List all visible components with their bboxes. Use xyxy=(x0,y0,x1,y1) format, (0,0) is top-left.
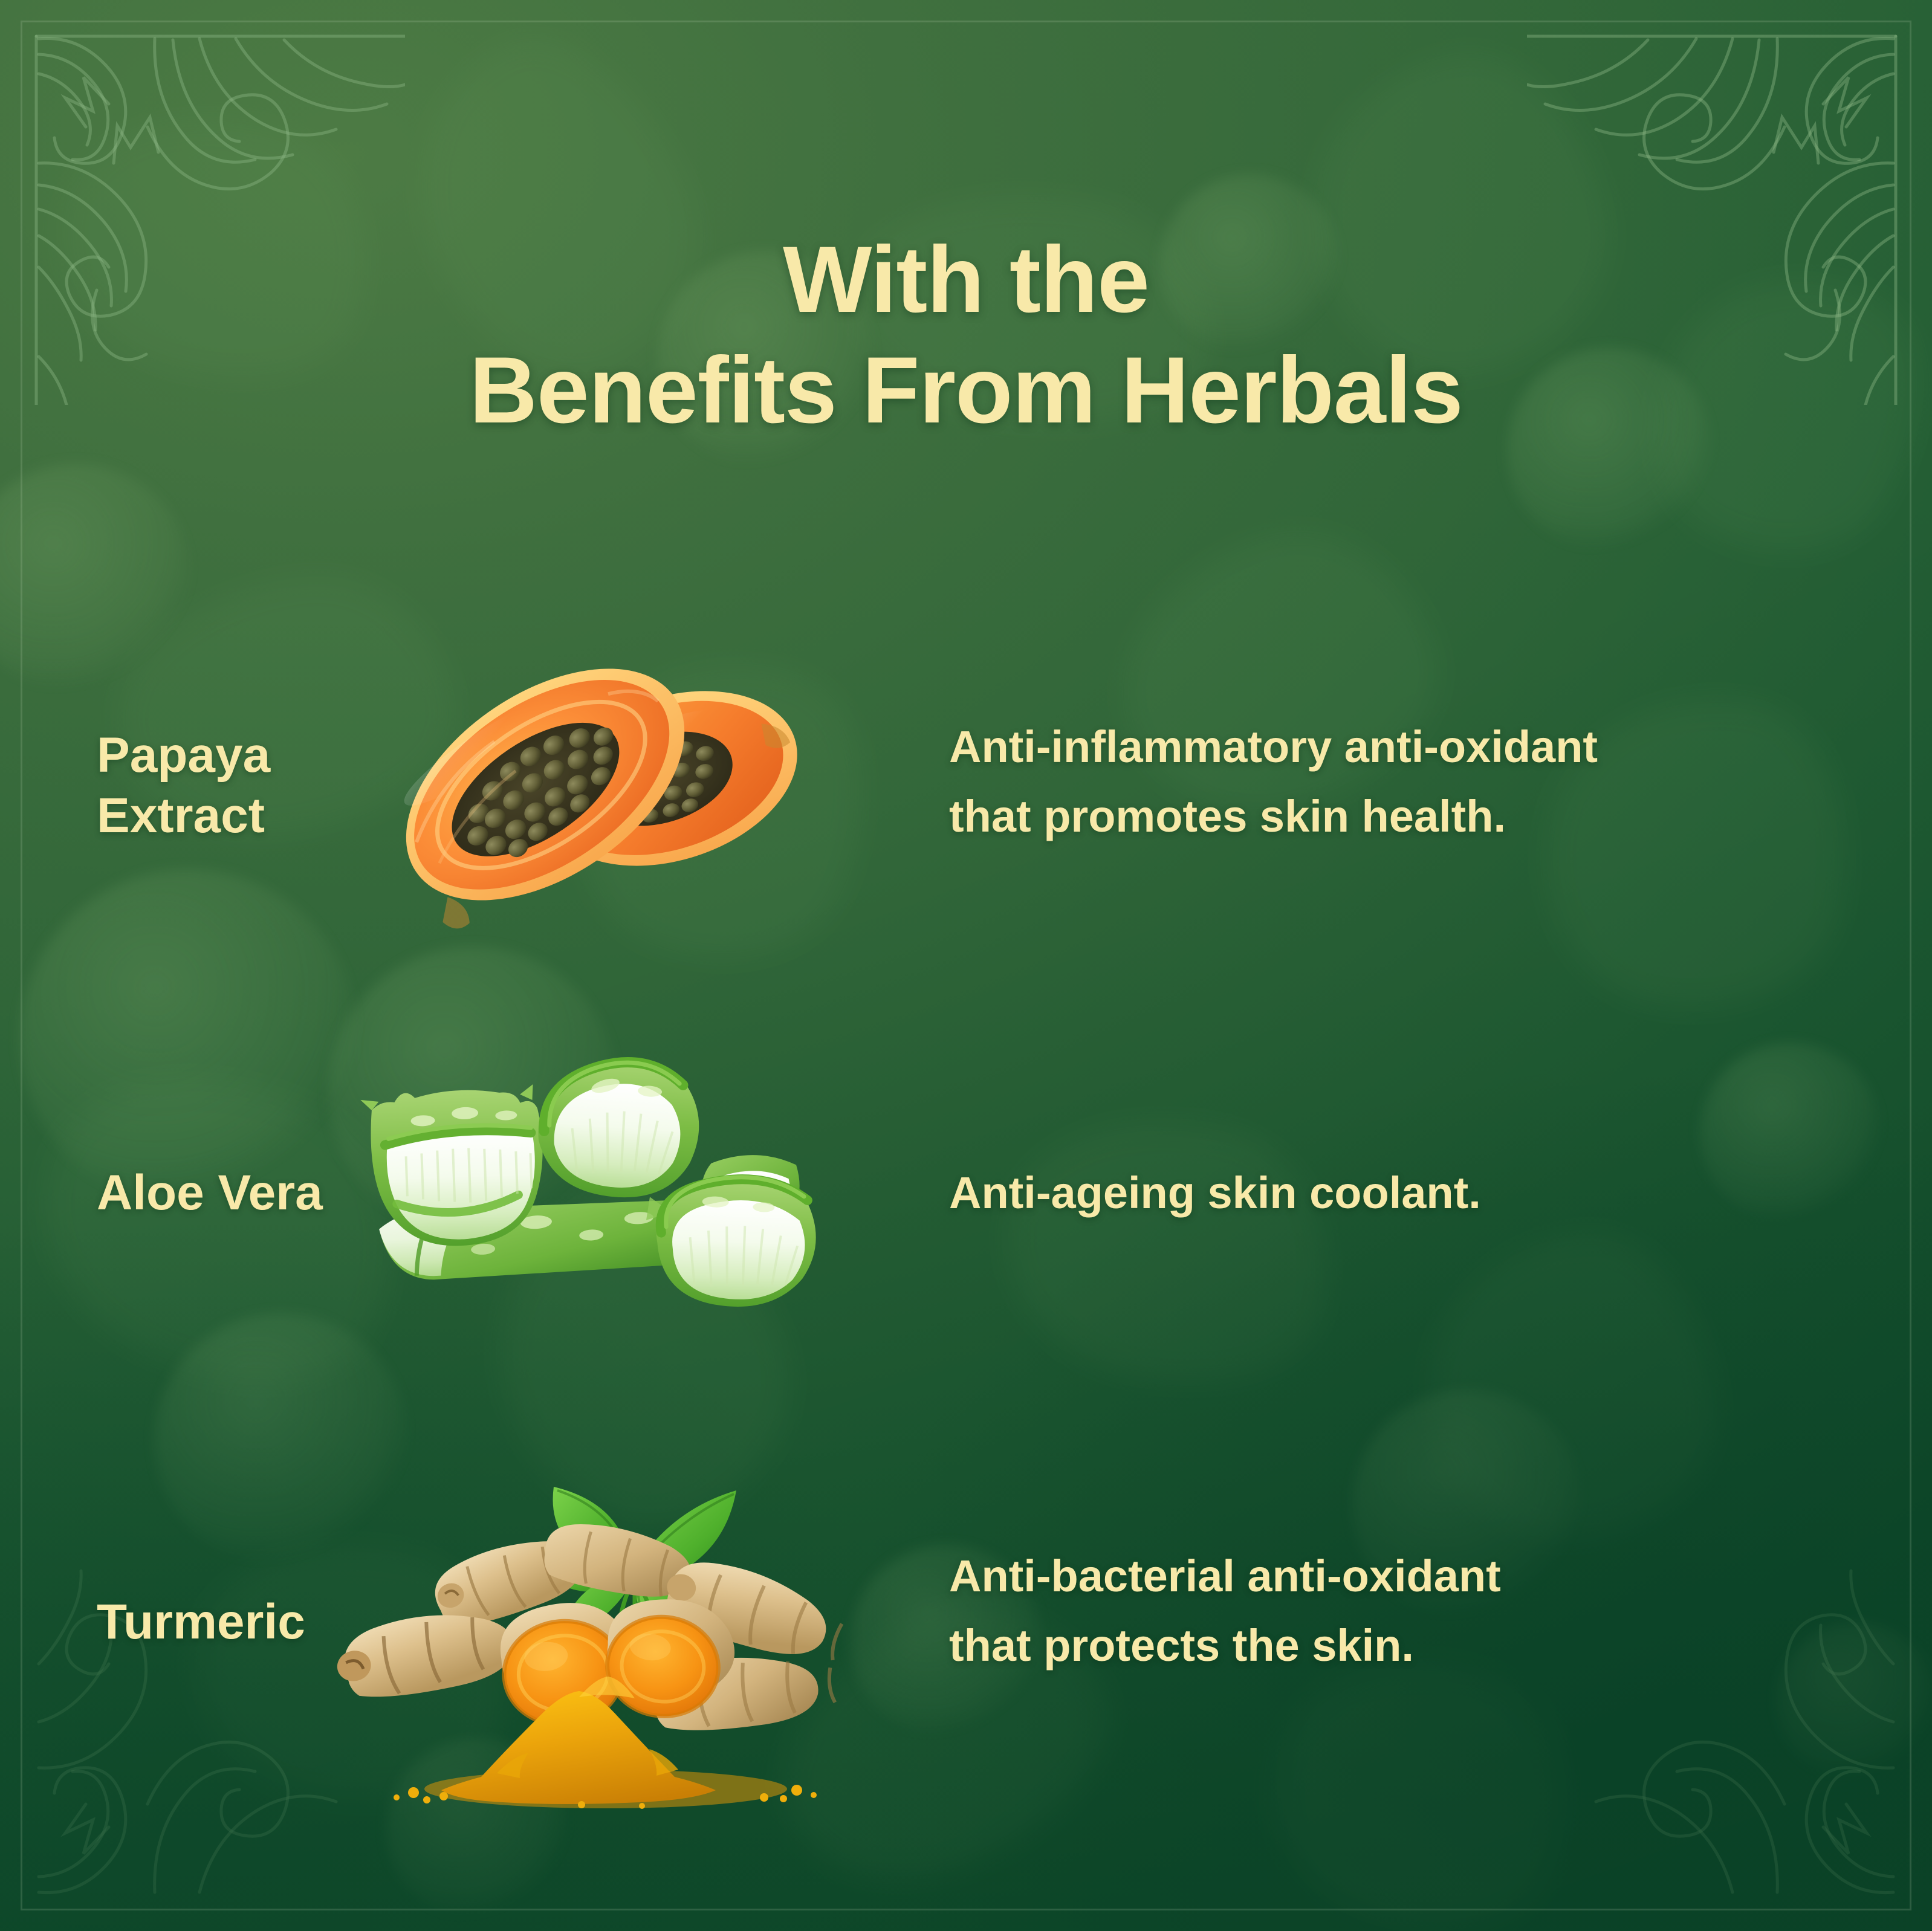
ingredient-row-aloe-vera: Aloe Vera xyxy=(0,1012,1932,1374)
aloe-vera-image xyxy=(314,1012,877,1374)
ingredient-name-line-2: Extract xyxy=(97,788,265,843)
ingredient-description-papaya: Anti-inflammatory anti-oxidant that prom… xyxy=(937,713,1932,851)
ingredient-name-line-1: Papaya xyxy=(97,728,270,783)
ingredient-row-papaya: Papaya Extract xyxy=(0,604,1932,967)
aloe-vera-slices-icon xyxy=(314,1012,877,1374)
turmeric-image xyxy=(296,1435,858,1797)
ingredient-desc-line-2: that promotes skin health. xyxy=(949,791,1506,841)
ingredient-row-turmeric: Turmeric xyxy=(0,1419,1932,1782)
page-title-line-2: Benefits From Herbals xyxy=(0,335,1932,446)
ingredient-desc-line-1: Anti-ageing skin coolant. xyxy=(949,1168,1481,1218)
ingredient-name-papaya: Papaya Extract xyxy=(0,725,375,846)
ingredient-description-aloe-vera: Anti-ageing skin coolant. xyxy=(937,1159,1932,1228)
papaya-image xyxy=(332,597,895,960)
herbal-benefits-poster: With the Benefits From Herbals Papaya Ex… xyxy=(0,0,1932,1931)
ingredient-desc-line-1: Anti-inflammatory anti-oxidant xyxy=(949,722,1598,772)
ingredient-name-line-1: Aloe Vera xyxy=(97,1165,323,1220)
ingredient-description-turmeric: Anti-bacterial anti-oxidant that protect… xyxy=(937,1542,1932,1680)
turmeric-root-powder-icon xyxy=(296,1435,858,1797)
ingredient-desc-line-2: that protects the skin. xyxy=(949,1620,1414,1671)
ingredient-name-line-1: Turmeric xyxy=(97,1594,305,1649)
papaya-halves-icon xyxy=(332,597,895,960)
ingredient-desc-line-1: Anti-bacterial anti-oxidant xyxy=(949,1551,1501,1601)
page-title: With the Benefits From Herbals xyxy=(0,225,1932,445)
page-title-line-1: With the xyxy=(0,225,1932,335)
ingredient-list: Papaya Extract xyxy=(0,604,1932,1782)
